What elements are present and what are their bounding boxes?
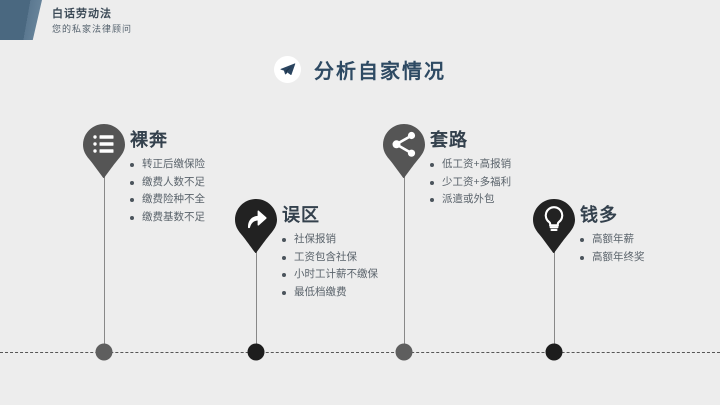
node-3-items: 低工资+高报销 少工资+多福利 派遣或外包 <box>430 156 511 209</box>
list-item: 缴费险种不全 <box>130 191 205 209</box>
node-1-pin[interactable] <box>83 124 125 178</box>
list-item: 缴费基数不足 <box>130 209 205 227</box>
node-1-stem <box>104 175 105 352</box>
list-item: 缴费人数不足 <box>130 174 205 192</box>
node-3-title: 套路 <box>430 130 511 150</box>
node-2-pin[interactable] <box>235 199 277 253</box>
node-3-content: 套路 低工资+高报销 少工资+多福利 派遣或外包 <box>430 130 511 209</box>
list-icon <box>83 124 125 178</box>
list-item: 派遣或外包 <box>430 191 511 209</box>
node-4-content: 钱多 高额年薪 高额年终奖 <box>580 205 645 266</box>
node-1-items: 转正后缴保险 缴费人数不足 缴费险种不全 缴费基数不足 <box>130 156 205 226</box>
share-icon <box>383 124 425 178</box>
node-4-dot[interactable] <box>546 344 563 361</box>
brand-header: 白话劳动法 您的私家法律顾问 <box>0 0 132 40</box>
list-item: 工资包含社保 <box>282 249 378 267</box>
page-title: 分析自家情况 <box>0 55 720 84</box>
slide-canvas: 白话劳动法 您的私家法律顾问 分析自家情况 <box>0 0 720 405</box>
node-2-dot[interactable] <box>248 344 265 361</box>
list-item: 少工资+多福利 <box>430 174 511 192</box>
node-4-stem <box>554 250 555 352</box>
node-2-content: 误区 社保报销 工资包含社保 小时工计薪不缴保 最低档缴费 <box>282 205 378 301</box>
parallelogram-logo-icon <box>0 0 42 40</box>
list-item: 高额年终奖 <box>580 249 645 267</box>
node-2-title: 误区 <box>282 205 378 225</box>
list-item: 小时工计薪不缴保 <box>282 266 378 284</box>
brand-title: 白话劳动法 <box>52 7 132 22</box>
list-item: 高额年薪 <box>580 231 645 249</box>
node-2-stem <box>256 250 257 352</box>
list-item: 最低档缴费 <box>282 284 378 302</box>
node-3-dot[interactable] <box>396 344 413 361</box>
lightbulb-icon <box>533 199 575 253</box>
node-4-items: 高额年薪 高额年终奖 <box>580 231 645 266</box>
node-1-title: 裸奔 <box>130 130 205 150</box>
node-4-title: 钱多 <box>580 205 645 225</box>
node-4-pin[interactable] <box>533 199 575 253</box>
list-item: 低工资+高报销 <box>430 156 511 174</box>
title-badge <box>274 56 301 83</box>
brand-subtitle: 您的私家法律顾问 <box>52 22 132 36</box>
node-3-pin[interactable] <box>383 124 425 178</box>
node-1-content: 裸奔 转正后缴保险 缴费人数不足 缴费险种不全 缴费基数不足 <box>130 130 205 226</box>
curved-arrow-icon <box>235 199 277 253</box>
list-item: 转正后缴保险 <box>130 156 205 174</box>
page-title-text: 分析自家情况 <box>314 55 446 84</box>
node-3-stem <box>404 175 405 352</box>
brand-text-block: 白话劳动法 您的私家法律顾问 <box>52 0 132 36</box>
node-1-dot[interactable] <box>96 344 113 361</box>
node-2-items: 社保报销 工资包含社保 小时工计薪不缴保 最低档缴费 <box>282 231 378 301</box>
paper-plane-icon <box>279 61 296 78</box>
list-item: 社保报销 <box>282 231 378 249</box>
